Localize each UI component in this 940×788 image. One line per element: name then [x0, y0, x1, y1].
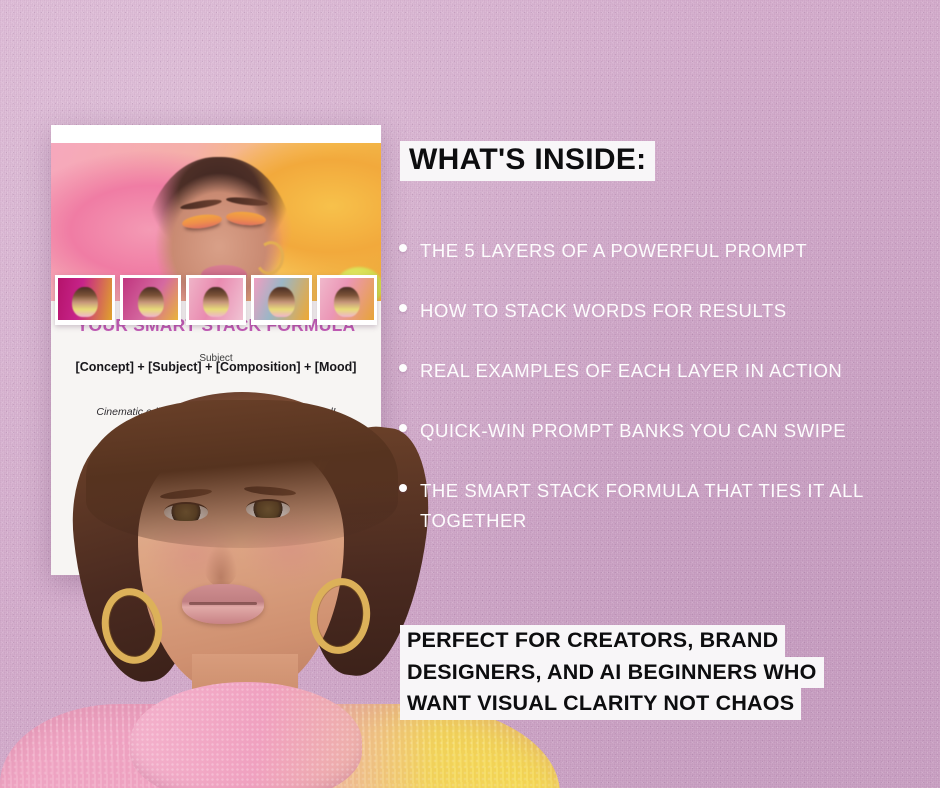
list-item-label: THE SMART STACK FORMULA THAT TIES IT ALL… — [420, 476, 919, 536]
card-example-text: Cinematic editorial close-up portrait, d… — [65, 404, 367, 420]
thumbnail-figure — [72, 287, 98, 316]
slide-canvas: YOUR SMART STACK FORMULA Subject [Concep… — [0, 0, 940, 788]
thumbnail-image — [123, 278, 177, 320]
list-item-label: HOW TO STACK WORDS FOR RESULTS — [420, 296, 787, 326]
hero-hoop-earring-icon — [253, 238, 287, 277]
feature-list: THE 5 LAYERS OF A POWERFUL PROMPT HOW TO… — [399, 236, 919, 566]
thumbnail-image — [58, 278, 112, 320]
list-item: HOW TO STACK WORDS FOR RESULTS — [399, 296, 919, 326]
bullet-dot-icon — [399, 484, 407, 492]
list-item: THE 5 LAYERS OF A POWERFUL PROMPT — [399, 236, 919, 266]
thumbnail-3 — [251, 275, 311, 325]
thumbnail-1 — [120, 275, 180, 325]
thumbnail-figure — [268, 287, 294, 316]
thumbnail-2 — [186, 275, 246, 325]
card-top-margin — [51, 125, 381, 143]
thumbnail-0 — [55, 275, 115, 325]
thumbnail-figure — [138, 287, 164, 316]
list-item: REAL EXAMPLES OF EACH LAYER IN ACTION — [399, 356, 919, 386]
list-item-label: REAL EXAMPLES OF EACH LAYER IN ACTION — [420, 356, 842, 386]
page-title: WHAT'S INSIDE: — [400, 141, 655, 181]
thumbnail-figure — [203, 287, 229, 316]
list-item-label: QUICK-WIN PROMPT BANKS YOU CAN SWIPE — [420, 416, 846, 446]
closing-line-2: WANT VISUAL CLARITY NOT CHAOS — [400, 688, 801, 720]
hero-eyeshadow-left — [181, 213, 222, 231]
hero-eyebrow-right — [226, 196, 269, 207]
closing-statement: PERFECT FOR CREATORS, BRAND DESIGNERS, A… — [400, 625, 900, 720]
list-item: QUICK-WIN PROMPT BANKS YOU CAN SWIPE — [399, 416, 919, 446]
list-item: THE SMART STACK FORMULA THAT TIES IT ALL… — [399, 476, 919, 536]
hero-eyeshadow-right — [226, 210, 267, 226]
hero-eyebrow-left — [180, 198, 223, 211]
thumbnail-image — [320, 278, 374, 320]
thumbnail-image — [189, 278, 243, 320]
bullet-dot-icon — [399, 304, 407, 312]
bullet-dot-icon — [399, 364, 407, 372]
thumbnail-figure — [334, 287, 360, 316]
thumbnail-4 — [317, 275, 377, 325]
bullet-dot-icon — [399, 244, 407, 252]
flyer-card: YOUR SMART STACK FORMULA Subject [Concep… — [51, 125, 381, 575]
list-item-label: THE 5 LAYERS OF A POWERFUL PROMPT — [420, 236, 807, 266]
card-subject-label: Subject — [51, 353, 381, 364]
card-note-text: The more layers you stack, the sharper t… — [65, 448, 367, 462]
closing-line-0: PERFECT FOR CREATORS, BRAND — [400, 625, 785, 657]
thumbnail-image — [254, 278, 308, 320]
card-thumbnail-strip — [51, 275, 381, 333]
bullet-dot-icon — [399, 424, 407, 432]
closing-line-1: DESIGNERS, AND AI BEGINNERS WHO — [400, 657, 824, 689]
